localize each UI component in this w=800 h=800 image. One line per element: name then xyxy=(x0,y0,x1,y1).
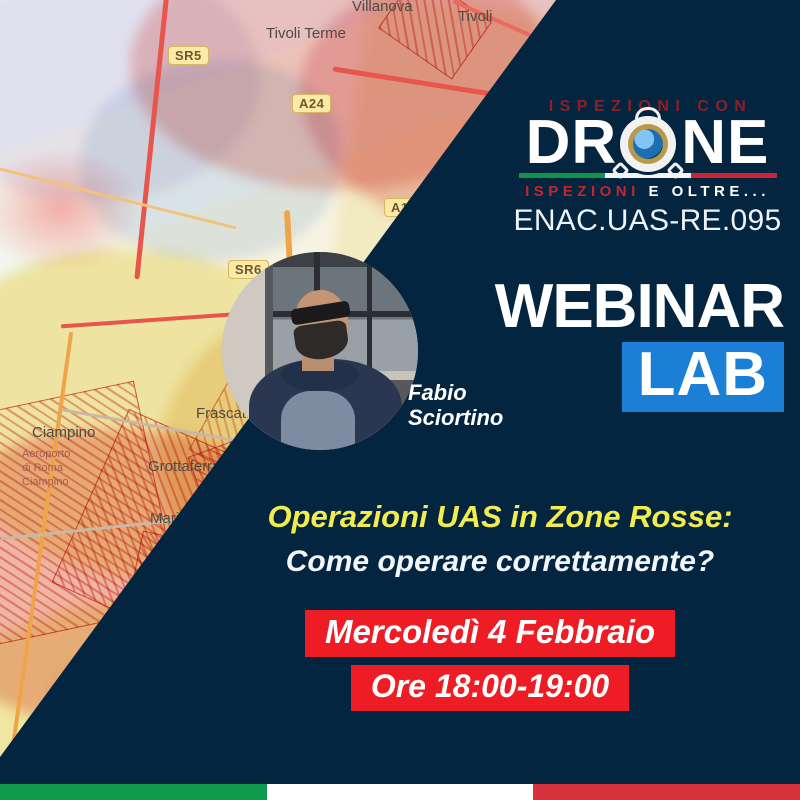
map-label-villanova: Villanova xyxy=(352,0,413,15)
lab-badge-label: LAB xyxy=(638,340,768,409)
event-date-badge: Mercoledì 4 Febbraio xyxy=(305,610,675,657)
map-label-ciampino: Ciampino xyxy=(32,424,95,441)
logo-wordmark-left: DR xyxy=(526,114,618,171)
logo-wordmark-right: NE xyxy=(681,114,769,171)
map-label-di-roma: di Roma xyxy=(22,462,63,474)
logo-tagline-bottom: ISPEZIONI E OLTRE... xyxy=(505,183,790,200)
logo-tagline-bottom-red: ISPEZIONI xyxy=(525,183,640,200)
portrait-window-frame xyxy=(367,252,372,375)
road-shield-sr5: SR5 xyxy=(168,46,209,65)
speaker-avatar xyxy=(222,252,418,450)
talk-title-secondary: Come operare correttamente? xyxy=(200,543,800,581)
road-shield-a24: A24 xyxy=(292,94,331,113)
map-label-tivoli: Tivoli xyxy=(458,8,492,25)
brand-logo: ISPEZIONI CON DRNE ISPEZIONI E OLTRE... … xyxy=(505,98,790,238)
italy-flag-strip xyxy=(0,784,800,800)
drone-camera-lens-icon xyxy=(620,116,676,172)
map-label-ciampino-2: Ciampino xyxy=(22,476,68,488)
map-label-tivoli-terme: Tivoli Terme xyxy=(266,25,346,42)
enac-license-number: ENAC.UAS-RE.095 xyxy=(505,204,790,238)
portrait-shirt xyxy=(281,391,355,450)
logo-wordmark: DRNE xyxy=(505,114,790,171)
map-label-aeroporto: Aeroporto xyxy=(22,448,70,460)
webinar-heading-block: WEBINAR LAB xyxy=(448,278,784,412)
talk-title-block: Operazioni UAS in Zone Rosse: Come opera… xyxy=(200,498,800,580)
flag-red-band xyxy=(533,784,800,800)
flag-white-band xyxy=(267,784,534,800)
webinar-heading: WEBINAR xyxy=(448,278,784,336)
lab-badge: LAB xyxy=(622,342,784,412)
event-time-badge: Ore 18:00-19:00 xyxy=(351,665,629,711)
webinar-poster: SR5 A24 SR6 A1 Villanova Tivoli Tivoli T… xyxy=(0,0,800,800)
flag-green-band xyxy=(0,784,267,800)
logo-tagline-bottom-white: E OLTRE... xyxy=(648,183,769,200)
schedule-block: Mercoledì 4 Febbraio Ore 18:00-19:00 xyxy=(180,610,800,711)
talk-title-primary: Operazioni UAS in Zone Rosse: xyxy=(200,498,800,537)
